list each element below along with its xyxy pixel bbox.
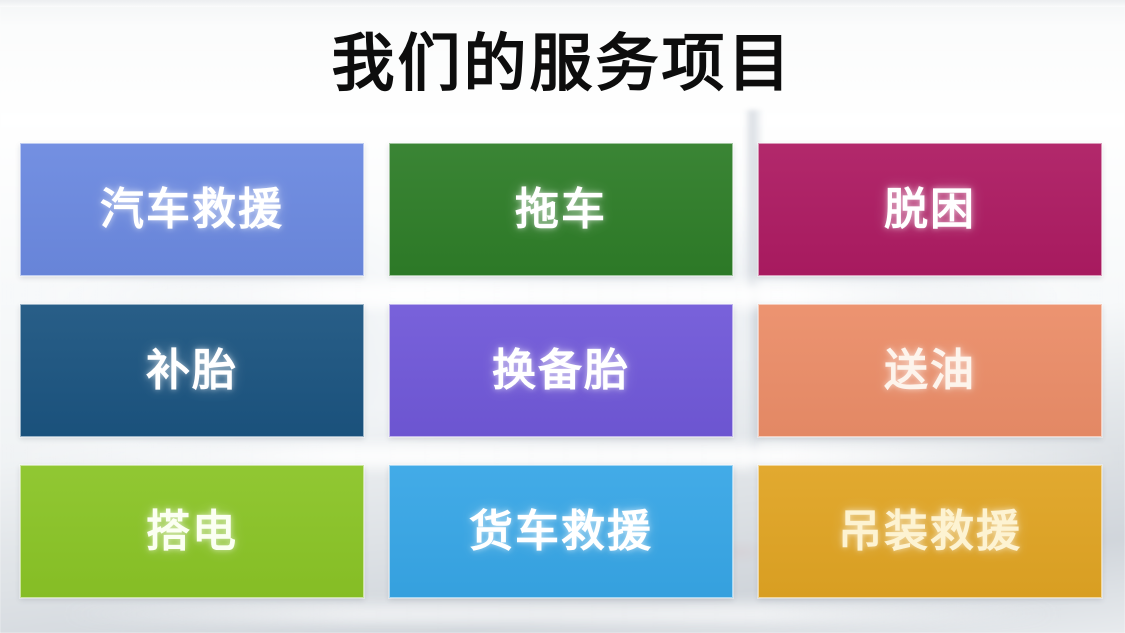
service-tile-spare-tire[interactable]: 换备胎 xyxy=(389,304,733,437)
service-tile-fuel-delivery[interactable]: 送油 xyxy=(758,304,1102,437)
service-tile-hoisting-rescue[interactable]: 吊装救援 xyxy=(758,465,1102,598)
service-tile-towing[interactable]: 拖车 xyxy=(389,143,733,276)
service-tile-tire-repair[interactable]: 补胎 xyxy=(20,304,364,437)
top-edge-strip xyxy=(0,0,1125,7)
service-grid: 汽车救援拖车脱困补胎换备胎送油搭电货车救援吊装救援 xyxy=(20,143,1103,603)
service-tile-jump-start[interactable]: 搭电 xyxy=(20,465,364,598)
page-title-container: 我们的服务项目 xyxy=(0,14,1125,114)
service-tile-label: 货车救援 xyxy=(469,510,653,554)
service-tile-label: 脱困 xyxy=(884,188,976,232)
page-title: 我们的服务项目 xyxy=(332,33,794,96)
service-tile-extrication[interactable]: 脱困 xyxy=(758,143,1102,276)
service-slide: 我们的服务项目 汽车救援拖车脱困补胎换备胎送油搭电货车救援吊装救援 xyxy=(0,0,1125,633)
service-tile-label: 补胎 xyxy=(146,349,238,393)
service-tile-car-rescue[interactable]: 汽车救援 xyxy=(20,143,364,276)
service-tile-label: 搭电 xyxy=(146,510,238,554)
service-tile-label: 换备胎 xyxy=(492,349,630,393)
background-highlight-streak xyxy=(60,604,1060,624)
service-tile-truck-rescue[interactable]: 货车救援 xyxy=(389,465,733,598)
service-tile-label: 汽车救援 xyxy=(100,188,284,232)
service-tile-label: 吊装救援 xyxy=(838,510,1022,554)
service-tile-label: 拖车 xyxy=(515,188,607,232)
service-tile-label: 送油 xyxy=(884,349,976,393)
